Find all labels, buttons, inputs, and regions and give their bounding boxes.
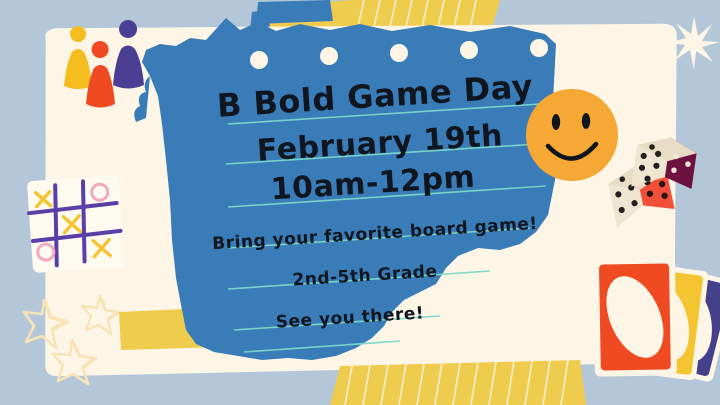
tic-tac-toe-sketch	[27, 175, 125, 273]
poster-canvas: B Bold Game Day February 19th 10am-12pm …	[0, 0, 720, 405]
smiley-face-icon	[526, 89, 618, 181]
poster-artwork	[0, 0, 720, 405]
tape-yellow-bottom-striped	[330, 360, 586, 405]
card-red	[593, 257, 677, 376]
